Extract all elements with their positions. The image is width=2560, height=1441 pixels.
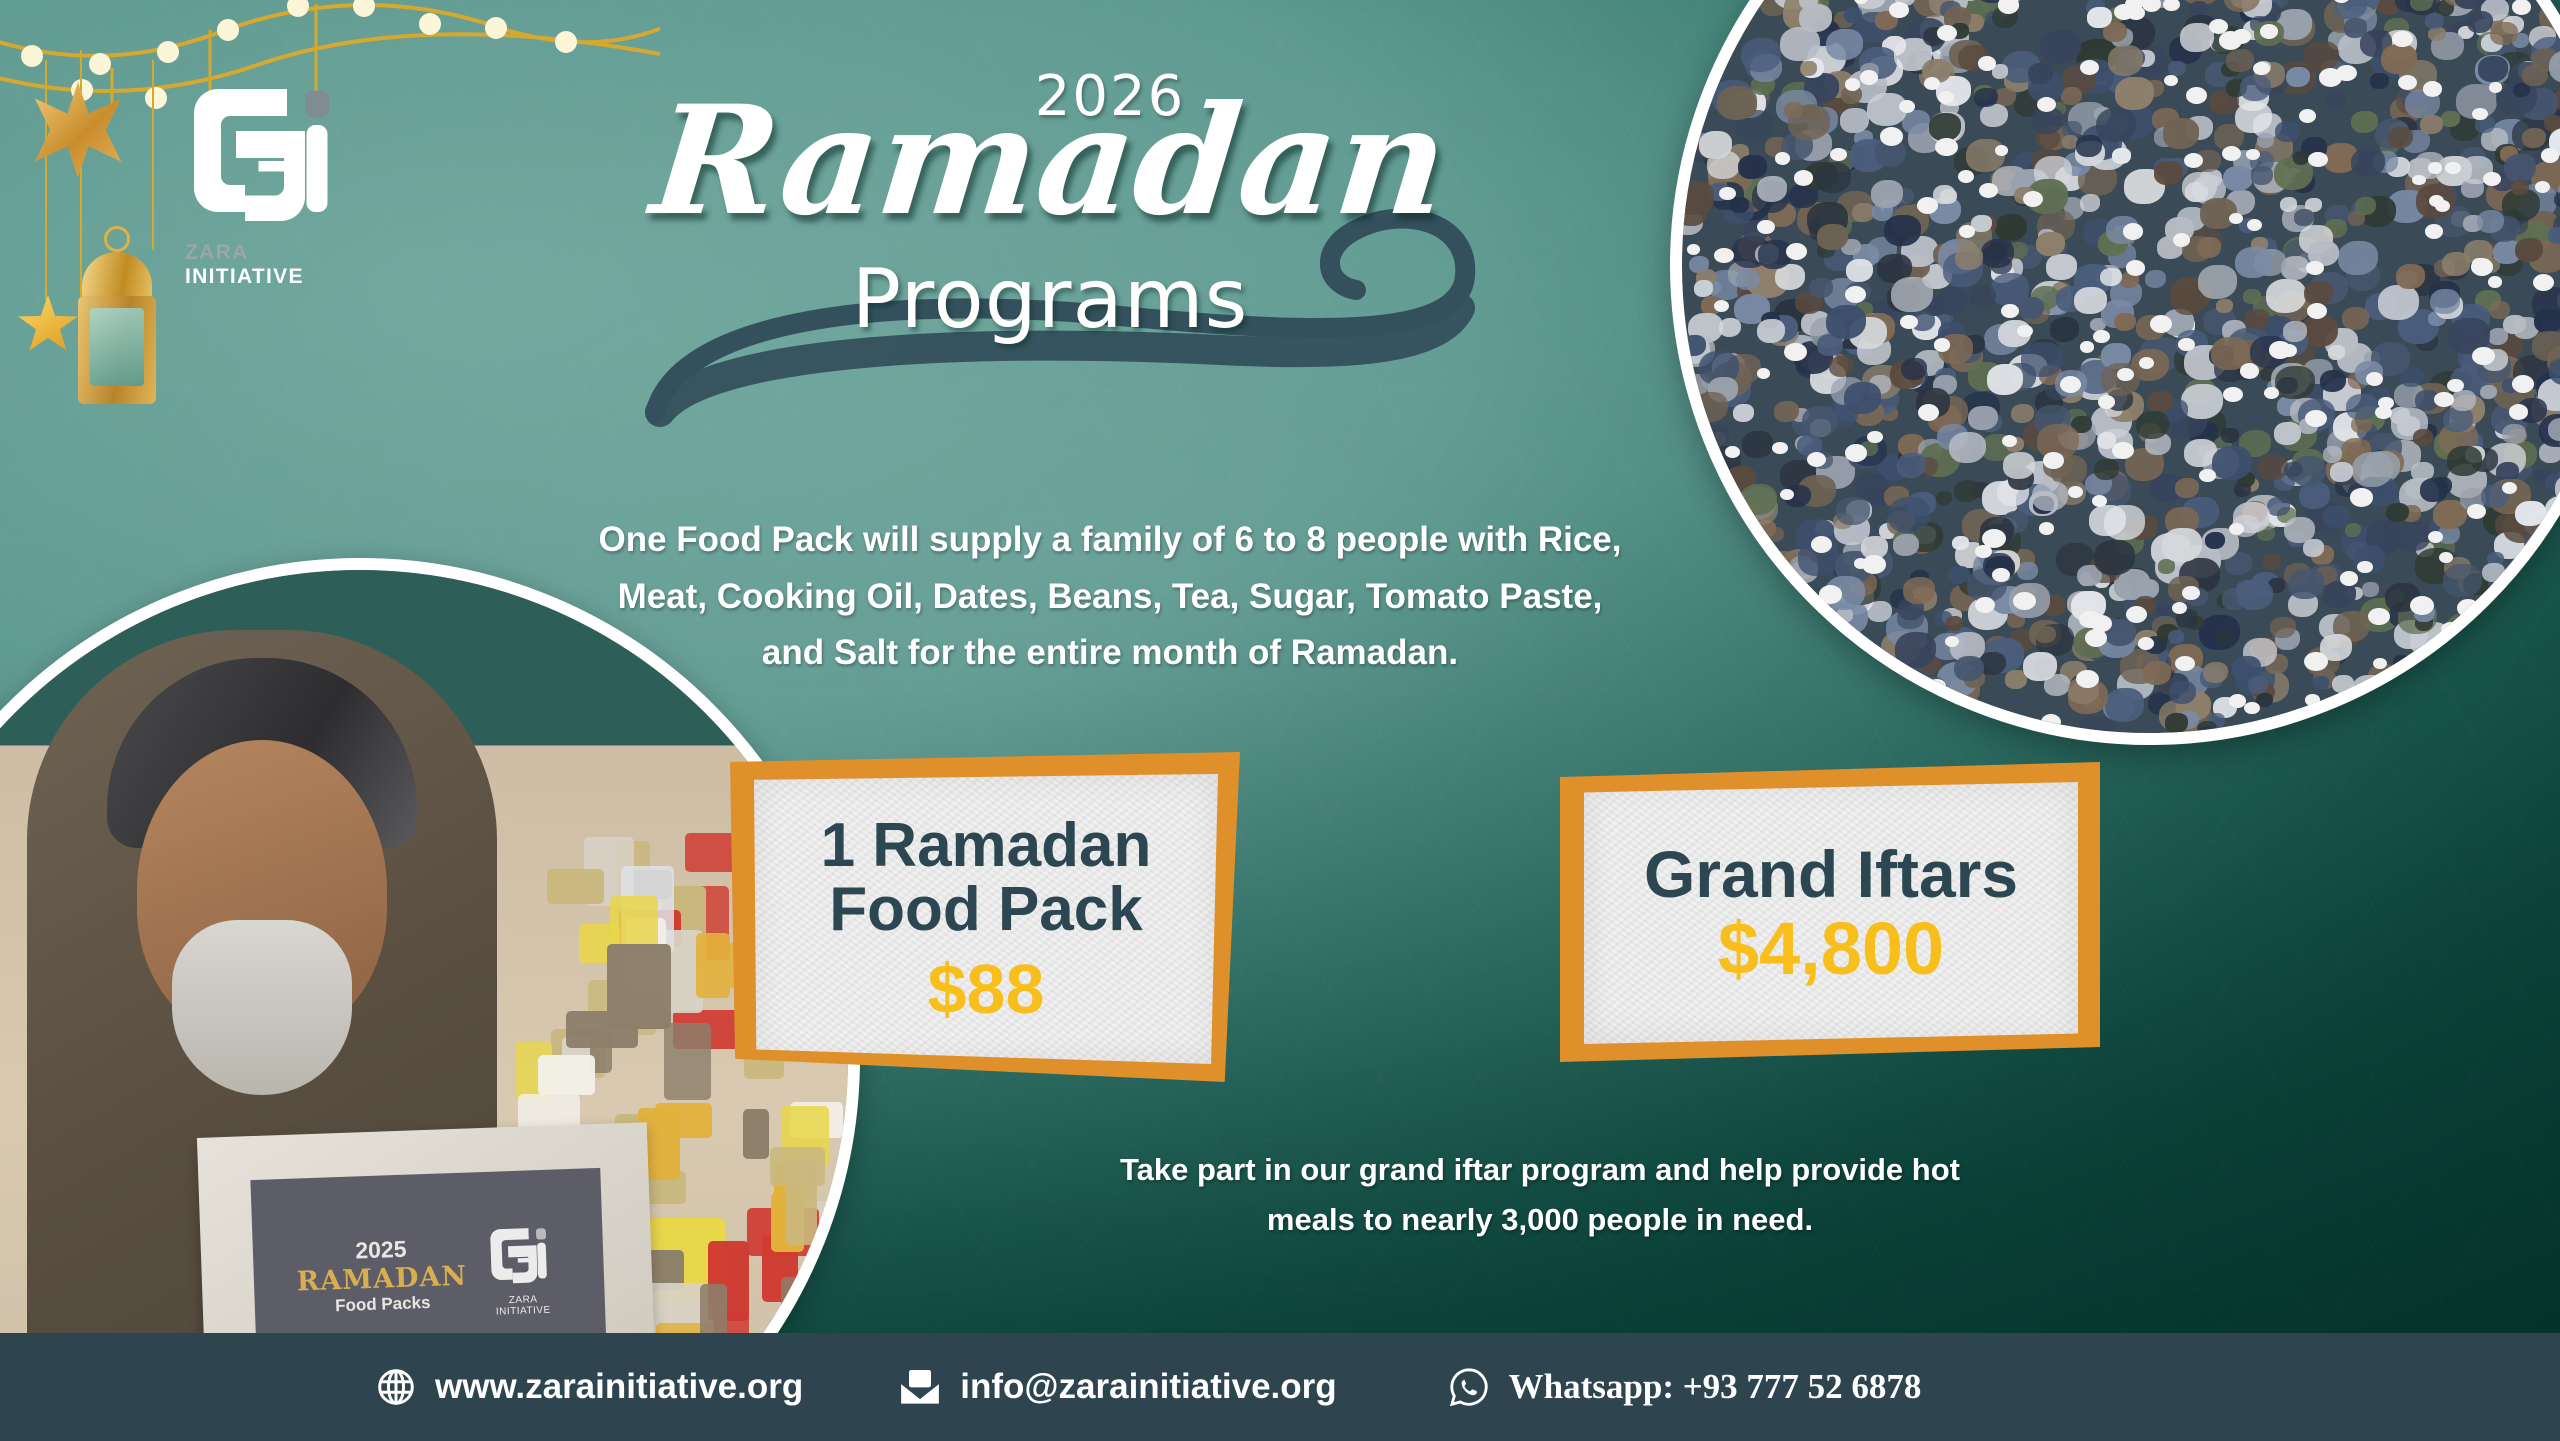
card2-price: $4,800 (1718, 912, 1944, 986)
card1-price: $88 (928, 954, 1045, 1024)
footer-email-text: info@zarainitiative.org (960, 1367, 1336, 1407)
footer-whatsapp-text: Whatsapp: +93 777 52 6878 (1509, 1367, 1922, 1407)
card2-title: Grand Iftars (1644, 840, 2018, 909)
box-label-brand: ZARA INITIATIVE (484, 1293, 563, 1318)
card-paper-surface: Grand Iftars $4,800 (1584, 782, 2078, 1044)
whatsapp-icon (1447, 1365, 1491, 1409)
hanging-thread (152, 60, 154, 250)
iftar-crowd-photo (1670, 0, 2560, 745)
footer-email[interactable]: @ info@zarainitiative.org (898, 1367, 1336, 1407)
zara-monogram-icon (481, 1224, 555, 1288)
brand-logo: ZARA INITIATIVE (185, 80, 365, 289)
crowd-image (1682, 0, 2560, 733)
price-card-food-pack[interactable]: 1 Ramadan Food Pack $88 (730, 752, 1240, 1082)
gold-five-point-star-icon (18, 295, 78, 353)
card-paper-surface: 1 Ramadan Food Pack $88 (754, 774, 1218, 1064)
footer-website[interactable]: www.zarainitiative.org (375, 1366, 803, 1408)
globe-icon (375, 1366, 417, 1408)
man-beard (172, 920, 352, 1095)
svg-text:@: @ (914, 1372, 926, 1386)
iftar-note-line-1: Take part in our grand iftar program and… (960, 1145, 2120, 1195)
page-title: Ramadan (593, 97, 1507, 226)
zara-monogram-icon (185, 80, 335, 230)
poster-canvas: ZARA INITIATIVE 2026 Ramadan Programs On… (0, 0, 2560, 1441)
gold-lantern-icon (72, 250, 162, 420)
title-block: 2026 Ramadan Programs (600, 58, 1500, 347)
brand-name-zara: ZARA (185, 241, 249, 264)
box-brand-initiative: INITIATIVE (496, 1305, 551, 1318)
box-label-title: RAMADAN (296, 1261, 467, 1298)
food-distribution-scene: 2025 RAMADAN Food Packs (0, 570, 848, 1441)
page-subtitle: Programs (600, 252, 1500, 347)
card1-title-line1: 1 Ramadan (821, 811, 1152, 880)
footer-website-text: www.zarainitiative.org (435, 1367, 803, 1407)
card1-title-line2: Food Pack (829, 875, 1143, 944)
brand-wordmark: ZARA INITIATIVE (185, 241, 365, 289)
envelope-icon: @ (898, 1367, 942, 1407)
hanging-thread (45, 60, 47, 300)
description-line-1: One Food Pack will supply a family of 6 … (560, 512, 1660, 569)
brand-name-initiative: INITIATIVE (185, 265, 304, 288)
iftar-note-line-2: meals to nearly 3,000 people in need. (960, 1195, 2120, 1245)
price-card-grand-iftars[interactable]: Grand Iftars $4,800 (1560, 762, 2100, 1062)
grand-iftar-description: Take part in our grand iftar program and… (960, 1145, 2120, 1245)
footer-whatsapp[interactable]: Whatsapp: +93 777 52 6878 (1447, 1365, 1922, 1409)
contact-footer: www.zarainitiative.org @ info@zarainitia… (0, 1333, 2560, 1441)
